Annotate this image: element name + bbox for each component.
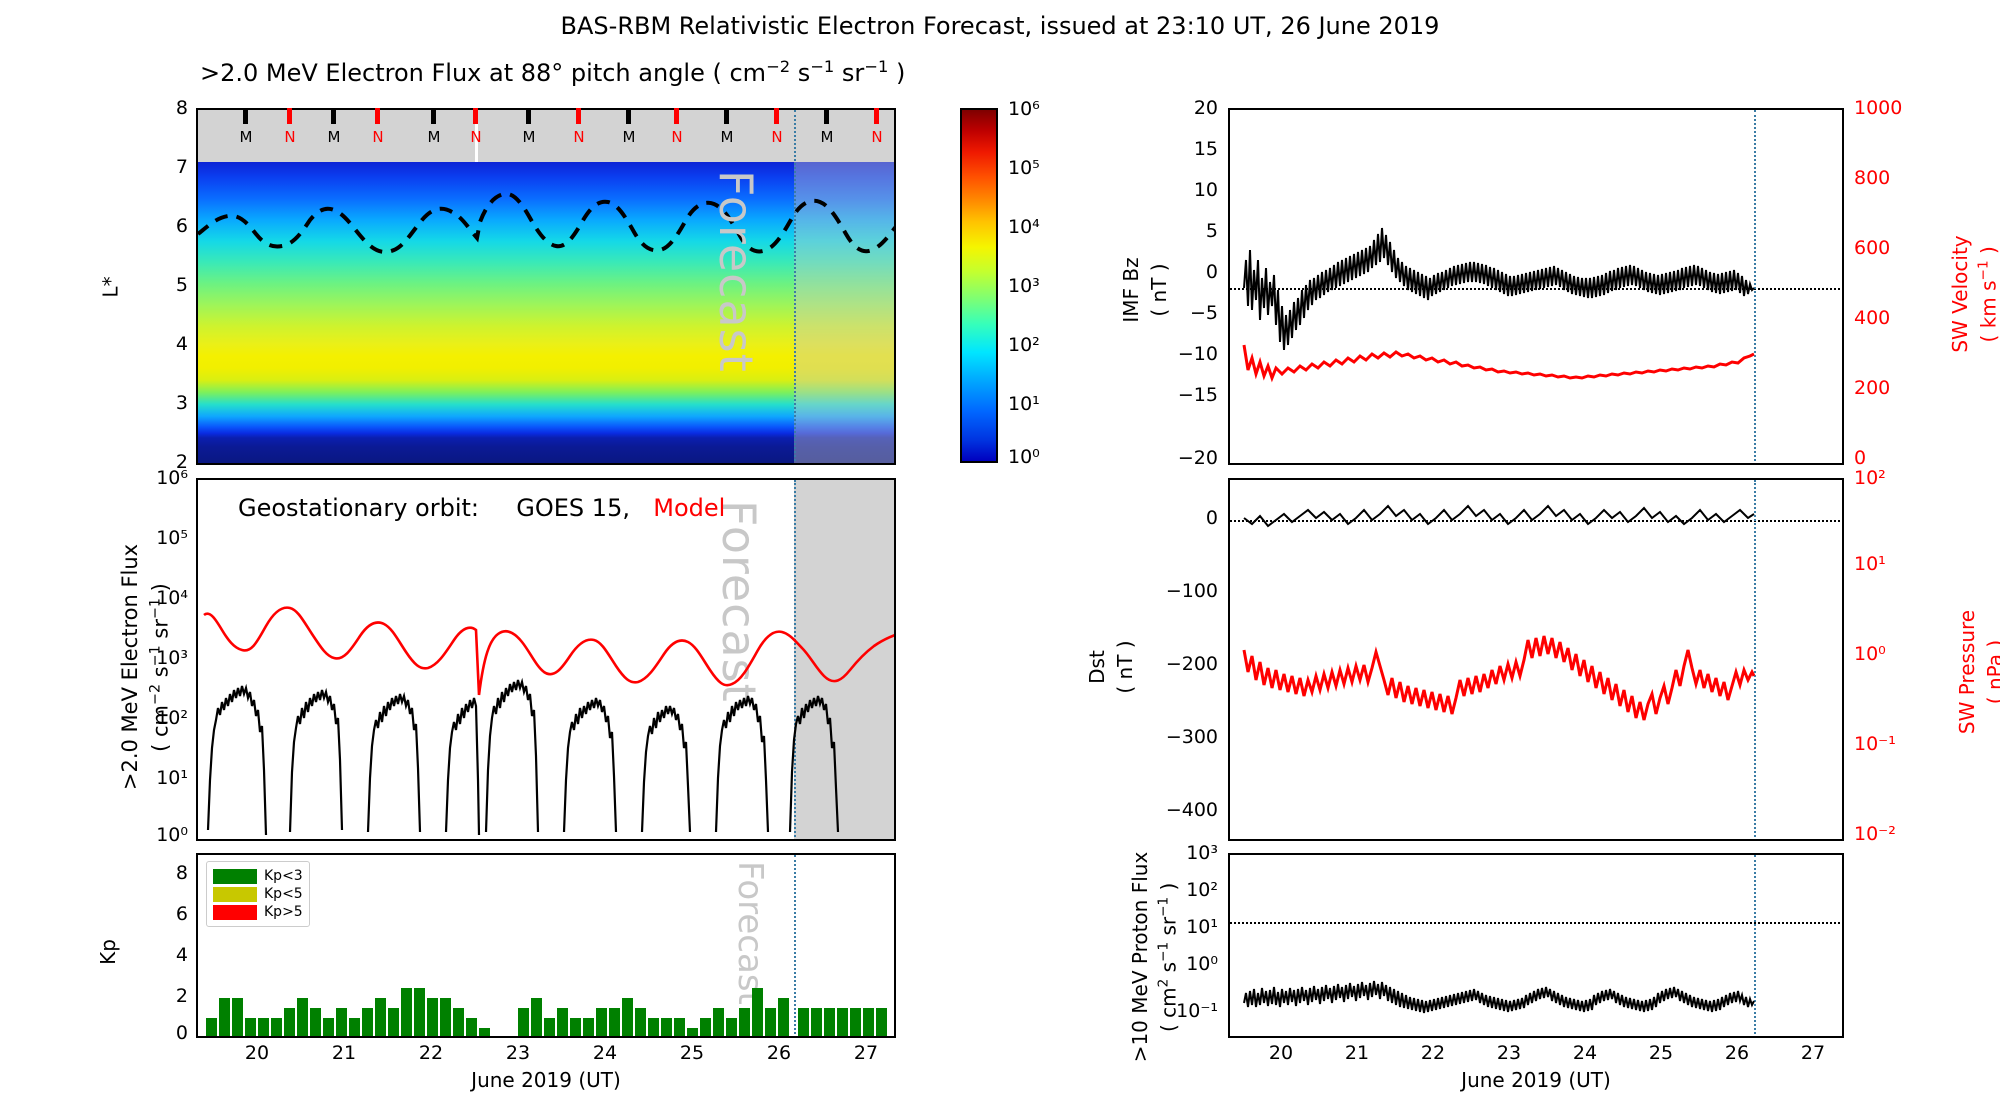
imf-bz-panel[interactable] (1228, 108, 1844, 465)
lstar-ytick-7: 7 (160, 156, 188, 178)
proton-unit-e3: −1 (1156, 897, 1172, 917)
right-xtick-24: 24 (1570, 1042, 1600, 1064)
kp-ytick-2: 2 (150, 985, 188, 1007)
left-xtick-23: 23 (503, 1042, 533, 1064)
right-xtick-27: 27 (1798, 1042, 1828, 1064)
geostationary-lstar-curve (198, 162, 896, 465)
geo-annotation: Geostationary orbit: GOES 15, Model (238, 494, 725, 522)
right-xtick-22: 22 (1418, 1042, 1448, 1064)
geo-annotation-obs: GOES 15, (516, 494, 630, 522)
lstar-title-d: sr (834, 59, 864, 87)
proton-unit-d: ) (1156, 883, 1180, 897)
kp-legend-label-low: Kp<3 (264, 868, 303, 884)
geo-axis-label-line1: >2.0 MeV Electron Flux (118, 477, 142, 857)
mn-label-1: N (274, 128, 306, 146)
bz-axis-label-line2: ( nT ) (1147, 225, 1171, 355)
geo-axis-label-line2: ( cm−2 s−1 sr−1 ) (148, 478, 173, 858)
proton-axis-label-line2: ( cm2 s−1 sr−1 ) (1156, 802, 1181, 1112)
swvel-axis-label-line1: SW Velocity (1948, 204, 1972, 384)
geo-unit-a: ( cm (149, 705, 173, 752)
lstar-title-e: ) (888, 59, 905, 87)
lstar-title-e3: −1 (864, 57, 888, 76)
colorbar-tick-1e6: 10⁶ (1008, 98, 1040, 120)
lstar-ytick-8: 8 (160, 97, 188, 119)
sw-velocity-series (1230, 110, 1844, 465)
proton-unit-e2: −1 (1156, 942, 1172, 962)
mn-label-0: M (230, 128, 262, 146)
bz-ytick-neg20: −20 (1150, 447, 1218, 469)
swvel-ytick-200: 200 (1854, 377, 1890, 399)
swvel-ytick-1000: 1000 (1854, 97, 1902, 119)
swp-ytick-1eneg2: 10⁻² (1854, 823, 1896, 845)
swvel-unit-e: −1 (1976, 260, 1992, 280)
mn-label-7: N (563, 128, 595, 146)
right-xtick-21: 21 (1342, 1042, 1372, 1064)
swvel-ytick-0: 0 (1854, 447, 1866, 469)
colorbar-tick-1e3: 10³ (1008, 275, 1040, 297)
bz-ytick-neg15: −15 (1150, 384, 1218, 406)
dst-ytick-neg100: −100 (1110, 580, 1218, 602)
mn-label-11: N (761, 128, 793, 146)
kp-legend-swatch-low (213, 869, 257, 884)
lstar-ytick-4: 4 (160, 333, 188, 355)
proton-unit-a: ( cm (1156, 987, 1180, 1032)
mn-label-6: M (513, 128, 545, 146)
lstar-title-b: pitch angle ( cm (563, 59, 766, 87)
dst-ytick-neg300: −300 (1110, 726, 1218, 748)
colorbar-tick-1e1: 10¹ (1008, 393, 1040, 415)
swvel-axis-label-line2: ( km s−1 ) (1976, 204, 2000, 384)
geo-unit-b: s (149, 666, 173, 684)
kp-ytick-4: 4 (150, 944, 188, 966)
mn-label-2: M (318, 128, 350, 146)
kp-ytick-8: 8 (150, 862, 188, 884)
mn-label-9: N (661, 128, 693, 146)
goes15-flux-curve (198, 480, 896, 841)
proton-unit-b: s (1156, 962, 1180, 979)
lstar-ytick-5: 5 (160, 274, 188, 296)
left-xtick-25: 25 (677, 1042, 707, 1064)
degree-icon: ° (551, 59, 563, 87)
swp-ytick-1e2: 10² (1854, 467, 1886, 489)
lstar-title-a: >2.0 MeV Electron Flux at 88 (200, 59, 551, 87)
dst-panel[interactable] (1228, 478, 1844, 841)
dst-axis-label-line1: Dst (1085, 607, 1109, 727)
geo-annotation-model: Model (653, 494, 725, 522)
colorbar[interactable] (960, 108, 998, 463)
right-xtick-23: 23 (1494, 1042, 1524, 1064)
left-xtick-27: 27 (851, 1042, 881, 1064)
lstar-ytick-3: 3 (160, 392, 188, 414)
mn-label-4: M (418, 128, 450, 146)
mn-label-13: N (861, 128, 893, 146)
left-xtick-26: 26 (764, 1042, 794, 1064)
mn-label-8: M (613, 128, 645, 146)
swp-ytick-1e0: 10⁰ (1854, 643, 1886, 665)
left-xtick-22: 22 (416, 1042, 446, 1064)
right-xtick-25: 25 (1646, 1042, 1676, 1064)
page-title: BAS-RBM Relativistic Electron Forecast, … (0, 12, 2000, 40)
right-xtick-20: 20 (1266, 1042, 1296, 1064)
kp-legend-label-mid: Kp<5 (264, 886, 303, 902)
lstar-heatmap-panel[interactable]: Forecast (196, 108, 896, 465)
left-xtick-24: 24 (590, 1042, 620, 1064)
geo-annotation-prefix: Geostationary orbit: (238, 494, 479, 522)
bz-ytick-10: 10 (1150, 179, 1218, 201)
swp-axis-label-line2: ( nPa ) (1983, 577, 2000, 767)
left-xtick-20: 20 (242, 1042, 272, 1064)
proton-flux-series (1230, 855, 1844, 1038)
mn-label-10: M (711, 128, 743, 146)
kp-legend-row-0: Kp<3 (213, 868, 303, 884)
kp-legend-row-2: Kp>5 (213, 904, 303, 920)
kp-ytick-0: 0 (150, 1022, 188, 1044)
swvel-ytick-400: 400 (1854, 307, 1890, 329)
right-xaxis-label: June 2019 (UT) (1228, 1068, 1844, 1092)
lstar-axis-label: L* (99, 276, 123, 297)
proton-axis-label-line1: >10 MeV Proton Flux (1128, 802, 1152, 1112)
proton-unit-c: sr (1156, 917, 1180, 942)
left-xtick-21: 21 (329, 1042, 359, 1064)
swp-ytick-1eneg1: 10⁻¹ (1854, 733, 1896, 755)
kp-axis-label: Kp (96, 939, 120, 965)
dst-ytick-0: 0 (1110, 507, 1218, 529)
geo-unit-e3: −1 (148, 598, 164, 619)
geo-unit-d: ) (149, 583, 173, 598)
geo-unit-e1: −2 (148, 684, 164, 705)
kp-legend-row-1: Kp<5 (213, 886, 303, 902)
kp-legend-swatch-mid (213, 887, 257, 902)
right-xtick-26: 26 (1722, 1042, 1752, 1064)
kp-ytick-6: 6 (150, 903, 188, 925)
proton-unit-sq: 2 (1156, 979, 1172, 988)
mn-tick-group: M N M N M N M N M N M N M N (196, 108, 896, 160)
colorbar-tick-1e0: 10⁰ (1008, 446, 1040, 468)
geostationary-flux-panel[interactable]: Forecast Geostationary orbit: GOES 15, M… (196, 478, 896, 841)
forecast-divider-line (794, 110, 796, 465)
kp-legend-label-high: Kp>5 (264, 904, 303, 920)
sw-pressure-series (1230, 480, 1844, 841)
swvel-unit-b: ) (1976, 246, 2000, 260)
swvel-unit-a: ( km s (1976, 280, 2000, 342)
left-xaxis-label: June 2019 (UT) (196, 1068, 896, 1092)
swp-ytick-1e1: 10¹ (1854, 553, 1886, 575)
colorbar-tick-1e2: 10² (1008, 334, 1040, 356)
proton-flux-panel[interactable] (1228, 853, 1844, 1038)
kp-legend-swatch-high (213, 905, 257, 920)
bz-axis-label-line1: IMF Bz (1119, 225, 1143, 355)
lstar-ytick-6: 6 (160, 215, 188, 237)
swvel-ytick-800: 800 (1854, 167, 1890, 189)
swp-axis-label-line1: SW Pressure (1955, 577, 1979, 767)
bz-ytick-15: 15 (1150, 138, 1218, 160)
colorbar-tick-1e5: 10⁵ (1008, 157, 1040, 179)
mn-label-12: M (811, 128, 843, 146)
bz-ytick-20: 20 (1150, 97, 1218, 119)
lstar-title-e1: −2 (766, 57, 790, 76)
dst-axis-label-line2: ( nT ) (1113, 607, 1137, 727)
kp-panel[interactable]: Forecast (196, 853, 896, 1038)
lstar-panel-title: >2.0 MeV Electron Flux at 88° pitch angl… (200, 57, 905, 87)
colorbar-tick-1e4: 10⁴ (1008, 216, 1040, 238)
geo-unit-c: sr (149, 619, 173, 645)
lstar-title-c: s (790, 59, 810, 87)
mn-label-5: N (460, 128, 492, 146)
forecast-watermark: Forecast (709, 170, 763, 430)
kp-legend[interactable]: Kp<3 Kp<5 Kp>5 (206, 861, 310, 927)
mn-label-3: N (362, 128, 394, 146)
geo-unit-e2: −1 (148, 645, 164, 666)
lstar-title-e2: −1 (810, 57, 834, 76)
swvel-ytick-600: 600 (1854, 237, 1890, 259)
